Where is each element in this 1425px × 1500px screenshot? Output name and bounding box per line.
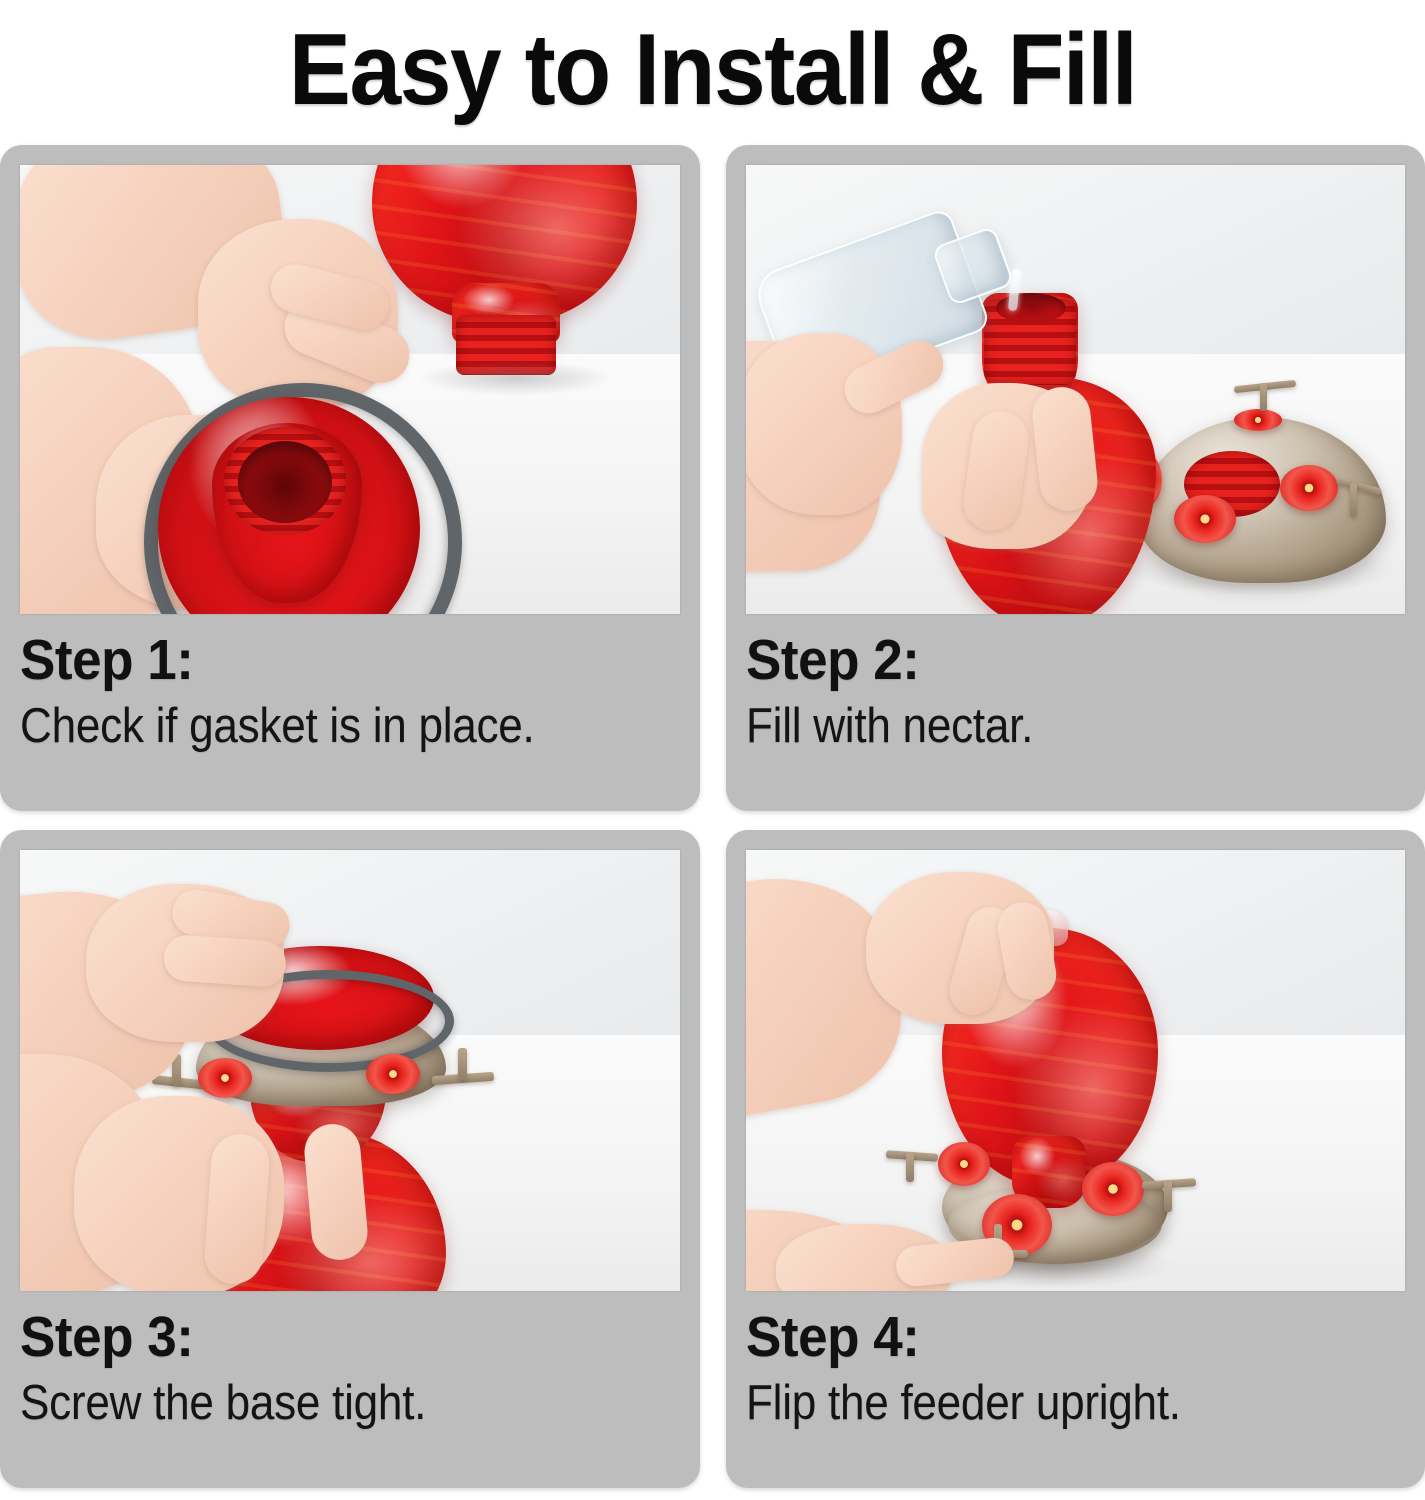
lower-thumb xyxy=(203,1132,271,1286)
flower-port-back xyxy=(1234,409,1282,431)
step-3-description: Screw the base tight. xyxy=(20,1378,618,1429)
title-bar: Easy to Install & Fill xyxy=(0,0,1425,140)
glass-neck-opening xyxy=(996,293,1066,323)
step-3-photo xyxy=(20,850,680,1291)
step-card-3: Step 3: Screw the base tight. xyxy=(0,830,700,1488)
step-4-label: Step 4: xyxy=(746,1308,1363,1366)
step-4-photo xyxy=(746,850,1405,1291)
perch-left-post xyxy=(906,1152,914,1182)
infographic-page: Easy to Install & Fill xyxy=(0,0,1425,1500)
step-2-caption: Step 2: Fill with nectar. xyxy=(746,631,1409,753)
step-card-4: Step 4: Flip the feeder upright. xyxy=(726,830,1425,1488)
step-4-description: Flip the feeder upright. xyxy=(746,1378,1343,1429)
scene-screw-base xyxy=(20,850,680,1291)
scene-fill-nectar xyxy=(746,165,1405,614)
upper-finger-2 xyxy=(163,934,288,988)
step-1-label: Step 1: xyxy=(20,631,638,689)
perch-right-post xyxy=(1350,483,1357,517)
flower-port-left xyxy=(938,1142,990,1186)
step-4-caption: Step 4: Flip the feeder upright. xyxy=(746,1308,1409,1430)
flower-port-front xyxy=(1174,495,1236,543)
step-card-1: Step 1: Check if gasket is in place. xyxy=(0,145,700,811)
step-2-label: Step 2: xyxy=(746,631,1363,689)
cap-thread-inner-shadow xyxy=(238,441,332,523)
step-1-photo xyxy=(20,165,680,614)
step-1-description: Check if gasket is in place. xyxy=(20,701,618,752)
flower-port-right xyxy=(1280,465,1338,511)
steps-grid: Step 1: Check if gasket is in place. xyxy=(0,145,1425,1490)
step-card-2: Step 2: Fill with nectar. xyxy=(726,145,1425,811)
perch-right-post xyxy=(1164,1180,1172,1212)
step-1-caption: Step 1: Check if gasket is in place. xyxy=(20,631,684,753)
flower-port-right xyxy=(366,1054,420,1094)
step-2-description: Fill with nectar. xyxy=(746,701,1343,752)
step-3-label: Step 3: xyxy=(20,1308,638,1366)
perch-back-post xyxy=(1260,383,1267,411)
flower-port-right xyxy=(1082,1162,1144,1216)
scene-flip-upright xyxy=(746,850,1405,1291)
step-2-photo xyxy=(746,165,1405,614)
bottle-shadow xyxy=(420,361,610,395)
flower-port-left xyxy=(198,1058,252,1098)
perch-right-post xyxy=(458,1048,467,1080)
step-3-caption: Step 3: Screw the base tight. xyxy=(20,1308,684,1430)
scene-gasket-check xyxy=(20,165,680,614)
page-title: Easy to Install & Fill xyxy=(289,20,1136,121)
